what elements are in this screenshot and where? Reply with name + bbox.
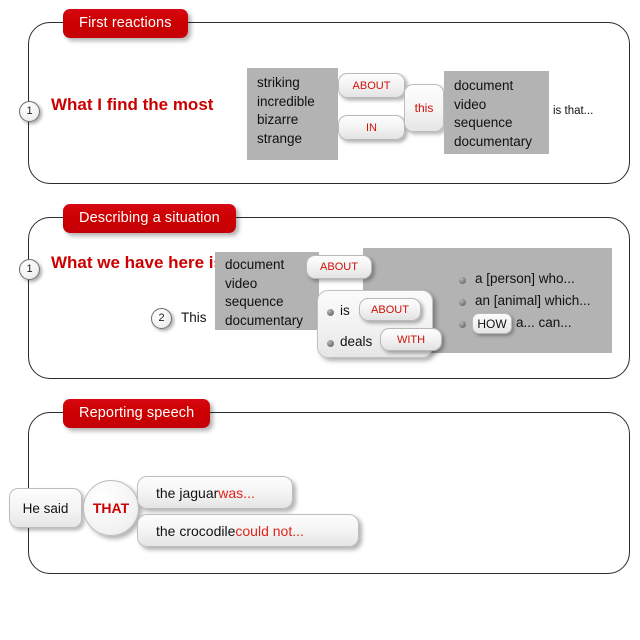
- bullet-sphere-icon: [327, 340, 334, 347]
- reported-clause-2-plain: the crocodile: [156, 523, 235, 539]
- step-marker-1: 1: [19, 259, 40, 280]
- adjective-item[interactable]: bizarre: [257, 111, 315, 130]
- lead-phrase-what-we-have-here-is: What we have here is: [51, 253, 223, 273]
- panel-title-describing-a-situation: Describing a situation: [63, 204, 236, 233]
- noun-item[interactable]: document: [225, 256, 303, 275]
- bullet-sphere-icon: [459, 277, 466, 284]
- adjective-list: striking incredible bizarre strange: [257, 74, 315, 148]
- sentence-tail-is-that: is that...: [553, 105, 593, 117]
- noun-item[interactable]: document: [454, 77, 532, 96]
- determiner-chip-this[interactable]: this: [404, 84, 444, 132]
- noun-item[interactable]: sequence: [225, 293, 303, 312]
- relative-clause-item[interactable]: an [animal] which...: [475, 293, 591, 308]
- demonstrative-this: This: [181, 310, 207, 325]
- bullet-sphere-icon: [459, 299, 466, 306]
- reported-clause-2-verb: could not...: [235, 523, 304, 539]
- noun-list: document video sequence documentary: [225, 256, 303, 330]
- noun-list: document video sequence documentary: [454, 77, 532, 151]
- relative-clause-item-how-tail[interactable]: a... can...: [516, 315, 572, 330]
- adjective-item[interactable]: strange: [257, 130, 315, 149]
- bullet-sphere-icon: [327, 309, 334, 316]
- panel-first-reactions: First reactions 1 What I find the most s…: [28, 22, 630, 184]
- conjunction-circle-that[interactable]: THAT: [83, 480, 139, 536]
- noun-item[interactable]: sequence: [454, 114, 532, 133]
- adjective-item[interactable]: incredible: [257, 93, 315, 112]
- preposition-chip-about[interactable]: ABOUT: [338, 73, 405, 98]
- preposition-chip-about[interactable]: ABOUT: [306, 255, 372, 279]
- panel-title-reporting-speech: Reporting speech: [63, 399, 210, 428]
- reported-clause-1-plain: the jaguar: [156, 485, 218, 501]
- verb-deals: deals: [340, 334, 372, 349]
- bullet-sphere-icon: [459, 321, 466, 328]
- panel-title-first-reactions: First reactions: [63, 9, 188, 38]
- panel-reporting-speech: Reporting speech He said THAT the jaguar…: [28, 412, 630, 574]
- noun-item[interactable]: documentary: [454, 133, 532, 152]
- reported-clause-1[interactable]: the jaguar was...: [137, 476, 293, 509]
- verb-is: is: [340, 303, 350, 318]
- relative-clause-item[interactable]: a [person] who...: [475, 271, 575, 286]
- step-marker-2: 2: [151, 308, 172, 329]
- noun-item[interactable]: video: [225, 275, 303, 294]
- preposition-chip-with[interactable]: WITH: [380, 328, 442, 351]
- preposition-chip-about-inner[interactable]: ABOUT: [359, 298, 421, 321]
- preposition-chip-in[interactable]: IN: [338, 115, 405, 140]
- noun-item[interactable]: documentary: [225, 312, 303, 331]
- reported-clause-1-verb: was...: [218, 485, 255, 501]
- step-marker-1: 1: [19, 101, 40, 122]
- adjective-item[interactable]: striking: [257, 74, 315, 93]
- subject-chip-he-said[interactable]: He said: [9, 488, 82, 528]
- noun-item[interactable]: video: [454, 96, 532, 115]
- panel-describing-a-situation: Describing a situation 1 What we have he…: [28, 217, 630, 379]
- question-word-chip-how[interactable]: HOW: [472, 313, 512, 334]
- lead-phrase-what-i-find-the-most: What I find the most: [51, 95, 213, 115]
- reported-clause-2[interactable]: the crocodile could not...: [137, 514, 359, 547]
